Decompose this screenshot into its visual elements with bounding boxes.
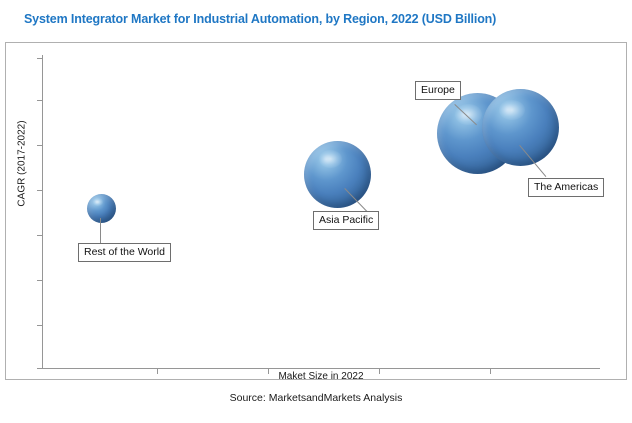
bubble-rest-of-the-world[interactable]: [87, 194, 116, 223]
y-axis-tick: [37, 145, 42, 146]
y-axis-tick: [37, 58, 42, 59]
label-the-americas[interactable]: The Americas: [528, 178, 604, 197]
y-axis-line: [42, 55, 43, 369]
y-axis-tick: [37, 100, 42, 101]
bubble-the-americas[interactable]: [482, 89, 559, 166]
y-axis-tick: [37, 368, 42, 369]
y-axis-tick: [37, 190, 42, 191]
y-axis-tick: [37, 325, 42, 326]
y-axis-label: CAGR (2017-2022): [17, 84, 28, 244]
label-rest-of-the-world[interactable]: Rest of the World: [78, 243, 171, 262]
x-axis-line: [42, 368, 600, 369]
label-europe[interactable]: Europe: [415, 81, 461, 100]
page-title: System Integrator Market for Industrial …: [24, 12, 496, 26]
bubble-asia-pacific[interactable]: [304, 141, 371, 208]
y-axis-tick: [37, 235, 42, 236]
y-axis-tick: [37, 280, 42, 281]
x-axis-label: Maket Size in 2022: [42, 371, 600, 382]
chart-page: System Integrator Market for Industrial …: [0, 0, 632, 423]
source-note: Source: MarketsandMarkets Analysis: [5, 392, 627, 404]
label-asia-pacific[interactable]: Asia Pacific: [313, 211, 379, 230]
